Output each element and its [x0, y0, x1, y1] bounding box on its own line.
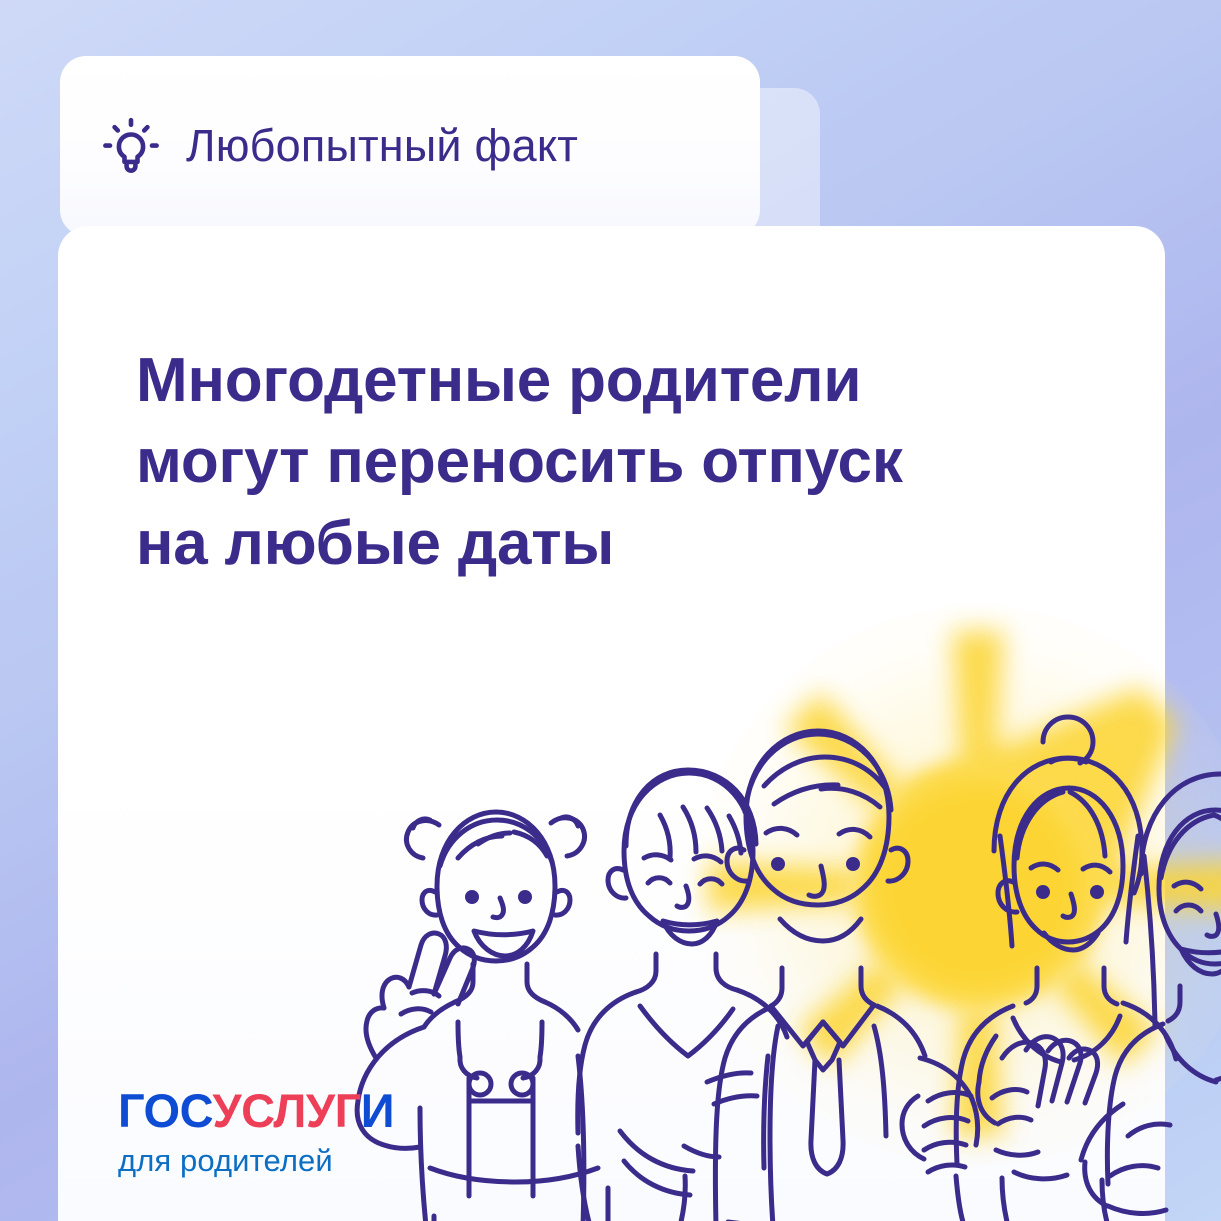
family-line-art — [308, 706, 1221, 1221]
headline-line-2: могут переносить отпуск — [136, 421, 1036, 503]
headline-line-1: Многодетные родители — [136, 340, 1036, 422]
logo-part-i: И — [361, 1084, 394, 1137]
sun-halo — [698, 606, 1221, 1166]
logo-part-uslug: УСЛУГ — [212, 1084, 360, 1137]
sun-rays — [698, 606, 1221, 1166]
logo-part-gos: ГОС — [118, 1084, 212, 1137]
headline-line-3: на любые даты — [136, 503, 1036, 585]
logo-subtitle: для родителей — [118, 1143, 394, 1179]
main-card: Многодетные родители могут переносить от… — [58, 226, 1165, 1221]
page-title: Многодетные родители могут переносить от… — [136, 340, 1036, 585]
sun-graphic — [698, 606, 1221, 1166]
kicker-label: Любопытный факт — [186, 120, 578, 172]
poster-root: Любопытный факт — [0, 0, 1221, 1221]
kicker-card: Любопытный факт — [60, 56, 760, 236]
sun-core — [853, 761, 1103, 1011]
gosuslugi-logo: ГОСУСЛУГИ для родителей — [118, 1087, 394, 1179]
lightbulb-icon — [96, 111, 166, 181]
logo-wordmark: ГОСУСЛУГИ — [118, 1087, 394, 1134]
